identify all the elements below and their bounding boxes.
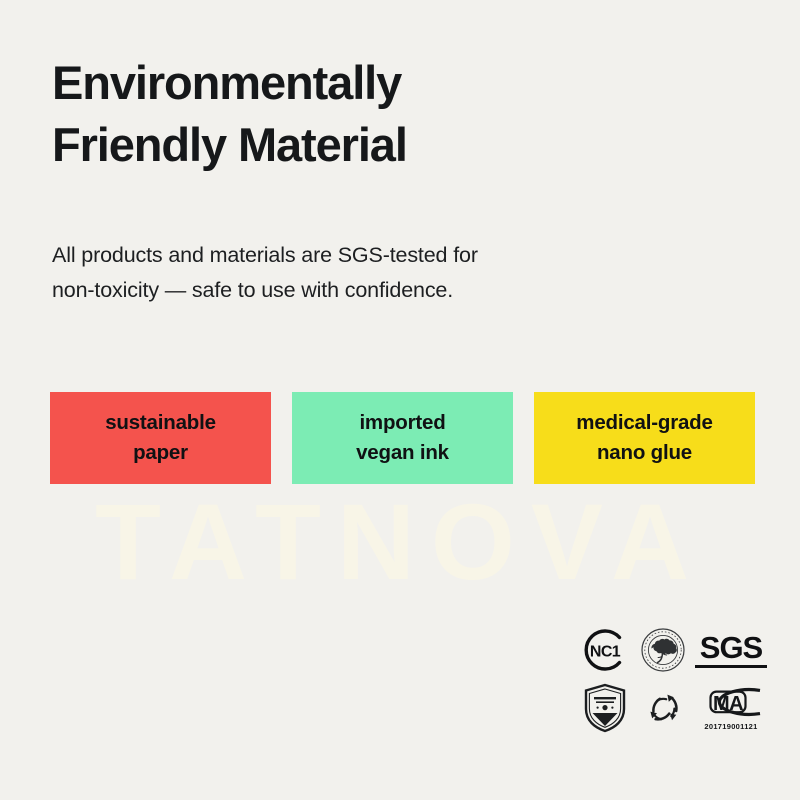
brand-watermark: TATNOVA — [0, 488, 800, 596]
page-title-line-2: Friendly Material — [52, 114, 692, 176]
recycling-symbol-icon — [634, 678, 692, 738]
cma-letters: MA — [713, 693, 743, 715]
sgs-underline — [695, 665, 767, 668]
page-title: Environmentally Friendly Material — [52, 52, 692, 176]
forest-seal-icon — [634, 622, 692, 678]
material-chip-label-line-1: sustainable — [105, 409, 216, 437]
sgs-label: SGS — [700, 633, 762, 663]
shield-badge-icon — [576, 678, 634, 738]
material-chip-list: sustainable paper imported vegan ink med… — [50, 392, 755, 484]
material-chip-imported-vegan-ink: imported vegan ink — [292, 392, 513, 484]
sgs-wordmark-icon: SGS — [692, 622, 770, 678]
cma-badge-icon: MA 201719001121 — [692, 678, 770, 738]
certification-badge-grid: NC1 SGS — [576, 622, 776, 738]
page-title-line-1: Environmentally — [52, 52, 692, 114]
material-chip-label-line-1: imported — [359, 409, 445, 437]
page-subtitle-line-2: non-toxicity — safe to use with confiden… — [52, 273, 672, 308]
material-chip-label-line-2: nano glue — [597, 439, 692, 467]
material-chip-medical-grade-nano-glue: medical-grade nano glue — [534, 392, 755, 484]
svg-text:NC1: NC1 — [590, 644, 621, 661]
material-chip-label-line-2: paper — [133, 439, 188, 467]
product-feature-card: TATNOVA Environmentally Friendly Materia… — [0, 0, 800, 800]
cma-certificate-number: 201719001121 — [704, 722, 757, 731]
page-subtitle: All products and materials are SGS-teste… — [52, 238, 672, 308]
page-subtitle-line-1: All products and materials are SGS-teste… — [52, 238, 672, 273]
material-chip-label-line-1: medical-grade — [576, 409, 712, 437]
nc1-badge-icon: NC1 — [576, 622, 634, 678]
material-chip-sustainable-paper: sustainable paper — [50, 392, 271, 484]
material-chip-label-line-2: vegan ink — [356, 439, 449, 467]
